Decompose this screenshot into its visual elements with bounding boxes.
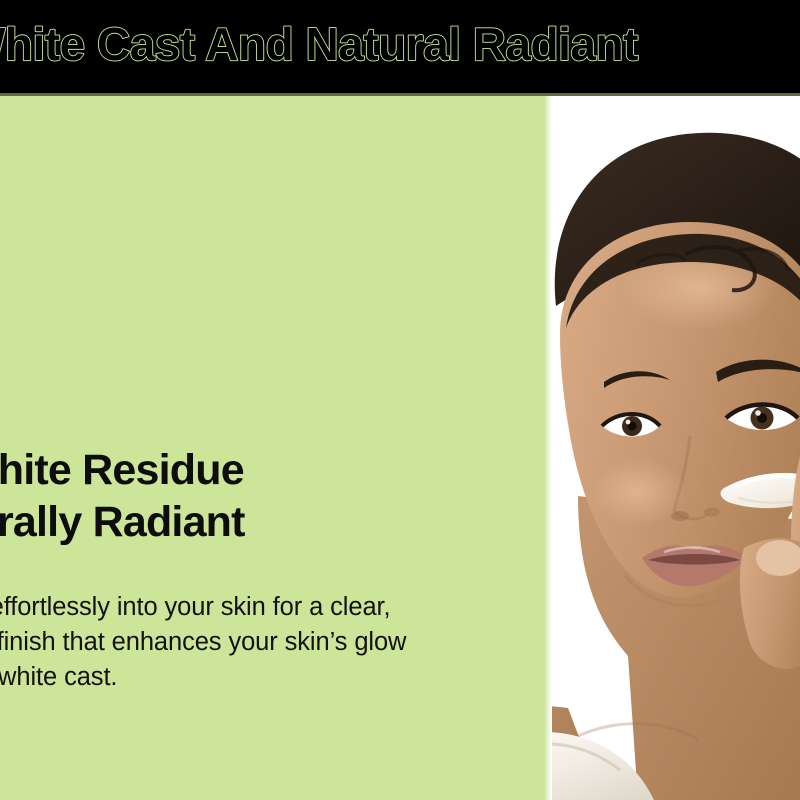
header-band: White Cast And Natural Radiant [0, 0, 800, 96]
body-line-2: al finish that enhances your skin’s glow [0, 625, 548, 660]
page-heading: White Residue turally Radiant [0, 444, 548, 548]
body-line-3: ut white cast. [0, 660, 548, 695]
body-paragraph: s effortlessly into your skin for a clea… [0, 590, 548, 695]
content-panel: White Residue turally Radiant s effortle… [0, 96, 548, 800]
header-title: White Cast And Natural Radiant [0, 18, 638, 70]
model-photo [548, 96, 800, 800]
body-line-1: s effortlessly into your skin for a clea… [0, 590, 548, 625]
heading-line-2: turally Radiant [0, 496, 548, 548]
header-underline [0, 93, 800, 96]
heading-line-1: White Residue [0, 444, 548, 496]
promo-banner: White Residue turally Radiant s effortle… [0, 0, 800, 800]
model-photo-panel [548, 96, 800, 800]
panel-photo-seam [544, 96, 552, 800]
